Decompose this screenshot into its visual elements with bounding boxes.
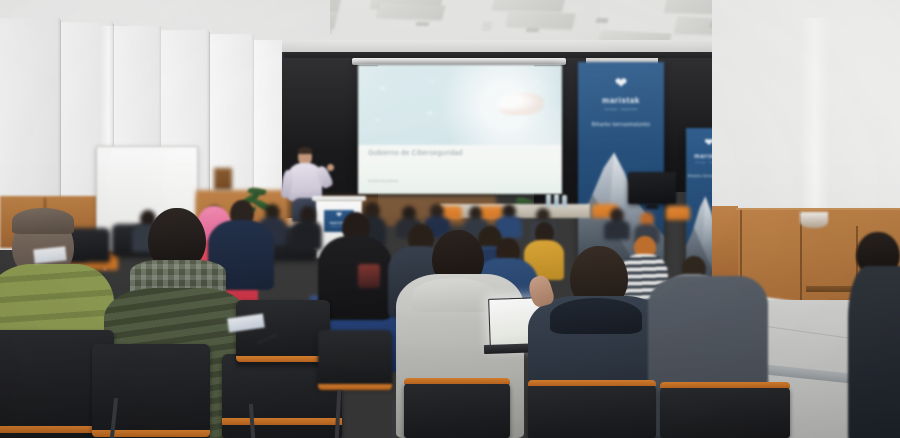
chair-back[interactable] — [528, 384, 656, 438]
chair-back[interactable] — [236, 300, 330, 364]
wall-sconce-icon — [800, 212, 828, 228]
podium-top-surface — [312, 196, 366, 201]
chair-back[interactable] — [660, 386, 790, 438]
water-bottle — [562, 195, 567, 207]
ceiling-vent-icon — [595, 18, 608, 24]
chair-orange — [666, 206, 690, 220]
slide-arrow-icon: ➜ — [533, 78, 538, 85]
slide-arrow-icon: ➜ — [374, 117, 379, 124]
ceiling-vent-icon — [526, 28, 540, 33]
water-bottle — [554, 194, 559, 207]
tshirt-print — [358, 264, 380, 288]
chair-back[interactable] — [92, 344, 210, 438]
projector-mount-icon — [481, 22, 493, 31]
banner-logo-icon: ❤ — [615, 76, 628, 91]
rear-soffit — [282, 40, 718, 52]
slide-arrow-icon: ➜ — [378, 83, 386, 94]
slide-arrow-icon: ➜ — [429, 78, 434, 85]
rear-wood-door — [214, 168, 232, 190]
audience-body — [848, 266, 900, 438]
chair-trim — [222, 418, 342, 425]
projection-screen: ➜ ➜ ➜ ➜ ➜ ➜ Gobierno de Ciberseguridad E… — [358, 65, 562, 194]
chair-back[interactable] — [318, 330, 392, 388]
slide-subtitle: Euskal ekosistema — [368, 179, 398, 183]
slide-arrow-icon: ➜ — [487, 123, 492, 130]
slide-title: Gobierno de Ciberseguridad — [368, 150, 462, 157]
ceiling-light-panel — [507, 11, 576, 29]
right-wall-light-streak — [800, 18, 830, 218]
audience-person-edge — [848, 232, 900, 438]
presenter-hair — [298, 147, 312, 154]
chair-trim — [318, 384, 392, 390]
audience-hair — [12, 208, 74, 234]
display-monitor — [628, 172, 676, 204]
ceiling-light-panel — [377, 3, 446, 20]
presenter-hand — [327, 164, 334, 171]
projector-screen-housing — [352, 58, 566, 65]
chair-trim — [236, 356, 330, 362]
slide-logo-graphic — [498, 93, 544, 115]
slide-arrow-icon: ➜ — [425, 108, 433, 119]
audience-person — [604, 208, 630, 238]
ceiling-vent-icon — [416, 22, 430, 27]
chair-back[interactable] — [404, 382, 510, 438]
banner-subtitle: Biharko berrasmatzeko — [592, 122, 651, 128]
water-bottle — [546, 194, 551, 207]
chair-trim — [404, 378, 510, 384]
photo-scene: ➜ ➜ ➜ ➜ ➜ ➜ Gobierno de Ciberseguridad E… — [0, 0, 900, 438]
banner-brand: maristak — [602, 96, 640, 105]
window-blind — [0, 18, 60, 224]
chair-trim — [528, 380, 656, 386]
chair-leg — [392, 400, 396, 438]
chair-trim — [660, 382, 790, 388]
hoodie-hood — [412, 278, 496, 312]
wainscot-top-rail — [736, 208, 900, 210]
hoodie-hood — [550, 298, 642, 334]
banner-tagline: durango · ikastetxea — [605, 108, 638, 111]
audience-person-black-tee — [318, 212, 392, 316]
